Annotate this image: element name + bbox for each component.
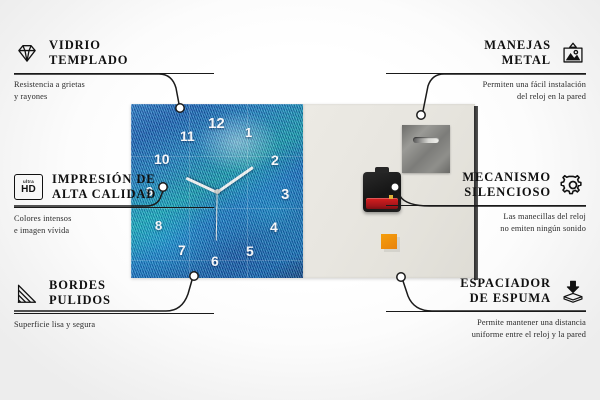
feature-divider xyxy=(386,205,586,206)
feature-mecanismo-silencioso[interactable]: MECANISMO SILENCIOSO Las manecillas del … xyxy=(386,170,586,234)
feature-vidrio-templado[interactable]: VIDRIO TEMPLADO Resistencia a grietas y … xyxy=(14,38,214,102)
feature-divider xyxy=(386,311,586,312)
feature-divider xyxy=(386,73,586,74)
feature-bordes-pulidos[interactable]: BORDES PULIDOS Superficie lisa y segura xyxy=(14,278,214,331)
feature-header: ESPACIADOR DE ESPUMA xyxy=(386,276,586,307)
picture-frame-icon xyxy=(560,40,586,66)
feature-divider xyxy=(14,207,214,208)
feature-desc-line2: del reloj en la pared xyxy=(386,91,586,103)
feature-title: VIDRIO TEMPLADO xyxy=(49,38,128,69)
feature-title: ESPACIADOR DE ESPUMA xyxy=(460,276,551,307)
feature-header: ultra HD IMPRESIÓN DE ALTA CALIDAD xyxy=(14,172,214,203)
feature-manejas-metal[interactable]: MANEJAS METAL Permiten una fácil instala… xyxy=(386,38,586,102)
feature-title: IMPRESIÓN DE ALTA CALIDAD xyxy=(52,172,156,203)
gear-icon xyxy=(560,172,586,198)
feature-header: MECANISMO SILENCIOSO xyxy=(386,170,586,201)
feature-desc-line1: Resistencia a grietas xyxy=(14,79,214,91)
feature-desc-line1: Permite mantener una distancia xyxy=(386,317,586,329)
feature-header: VIDRIO TEMPLADO xyxy=(14,38,214,69)
feature-desc-line2: e imagen vívida xyxy=(14,225,214,237)
foam-spacer-icon xyxy=(560,278,586,304)
feature-title: MECANISMO SILENCIOSO xyxy=(462,170,551,201)
feature-espaciador-espuma[interactable]: ESPACIADOR DE ESPUMA Permite mantener un… xyxy=(386,276,586,340)
feature-desc-line1: Las manecillas del reloj xyxy=(386,211,586,223)
ultra-hd-icon: ultra HD xyxy=(14,174,43,200)
feature-desc-line1: Colores intensos xyxy=(14,213,214,225)
diamond-icon xyxy=(14,40,40,66)
feature-header: BORDES PULIDOS xyxy=(14,278,214,309)
infographic-canvas: 12 1 2 3 4 5 6 7 8 9 10 11 xyxy=(0,0,600,400)
feature-title: MANEJAS METAL xyxy=(484,38,551,69)
feature-desc-line1: Permiten una fácil instalación xyxy=(386,79,586,91)
feature-divider xyxy=(14,313,214,314)
feature-header: MANEJAS METAL xyxy=(386,38,586,69)
polished-edge-icon xyxy=(14,280,40,306)
feature-divider xyxy=(14,73,214,74)
feature-desc-line2: no emiten ningún sonido xyxy=(386,223,586,235)
feature-desc-line1: Superficie lisa y segura xyxy=(14,319,214,331)
feature-impresion-alta-calidad[interactable]: ultra HD IMPRESIÓN DE ALTA CALIDAD Color… xyxy=(14,172,214,236)
feature-desc-line2: uniforme entre el reloj y la pared xyxy=(386,329,586,341)
feature-desc-line2: y rayones xyxy=(14,91,214,103)
feature-title: BORDES PULIDOS xyxy=(49,278,111,309)
